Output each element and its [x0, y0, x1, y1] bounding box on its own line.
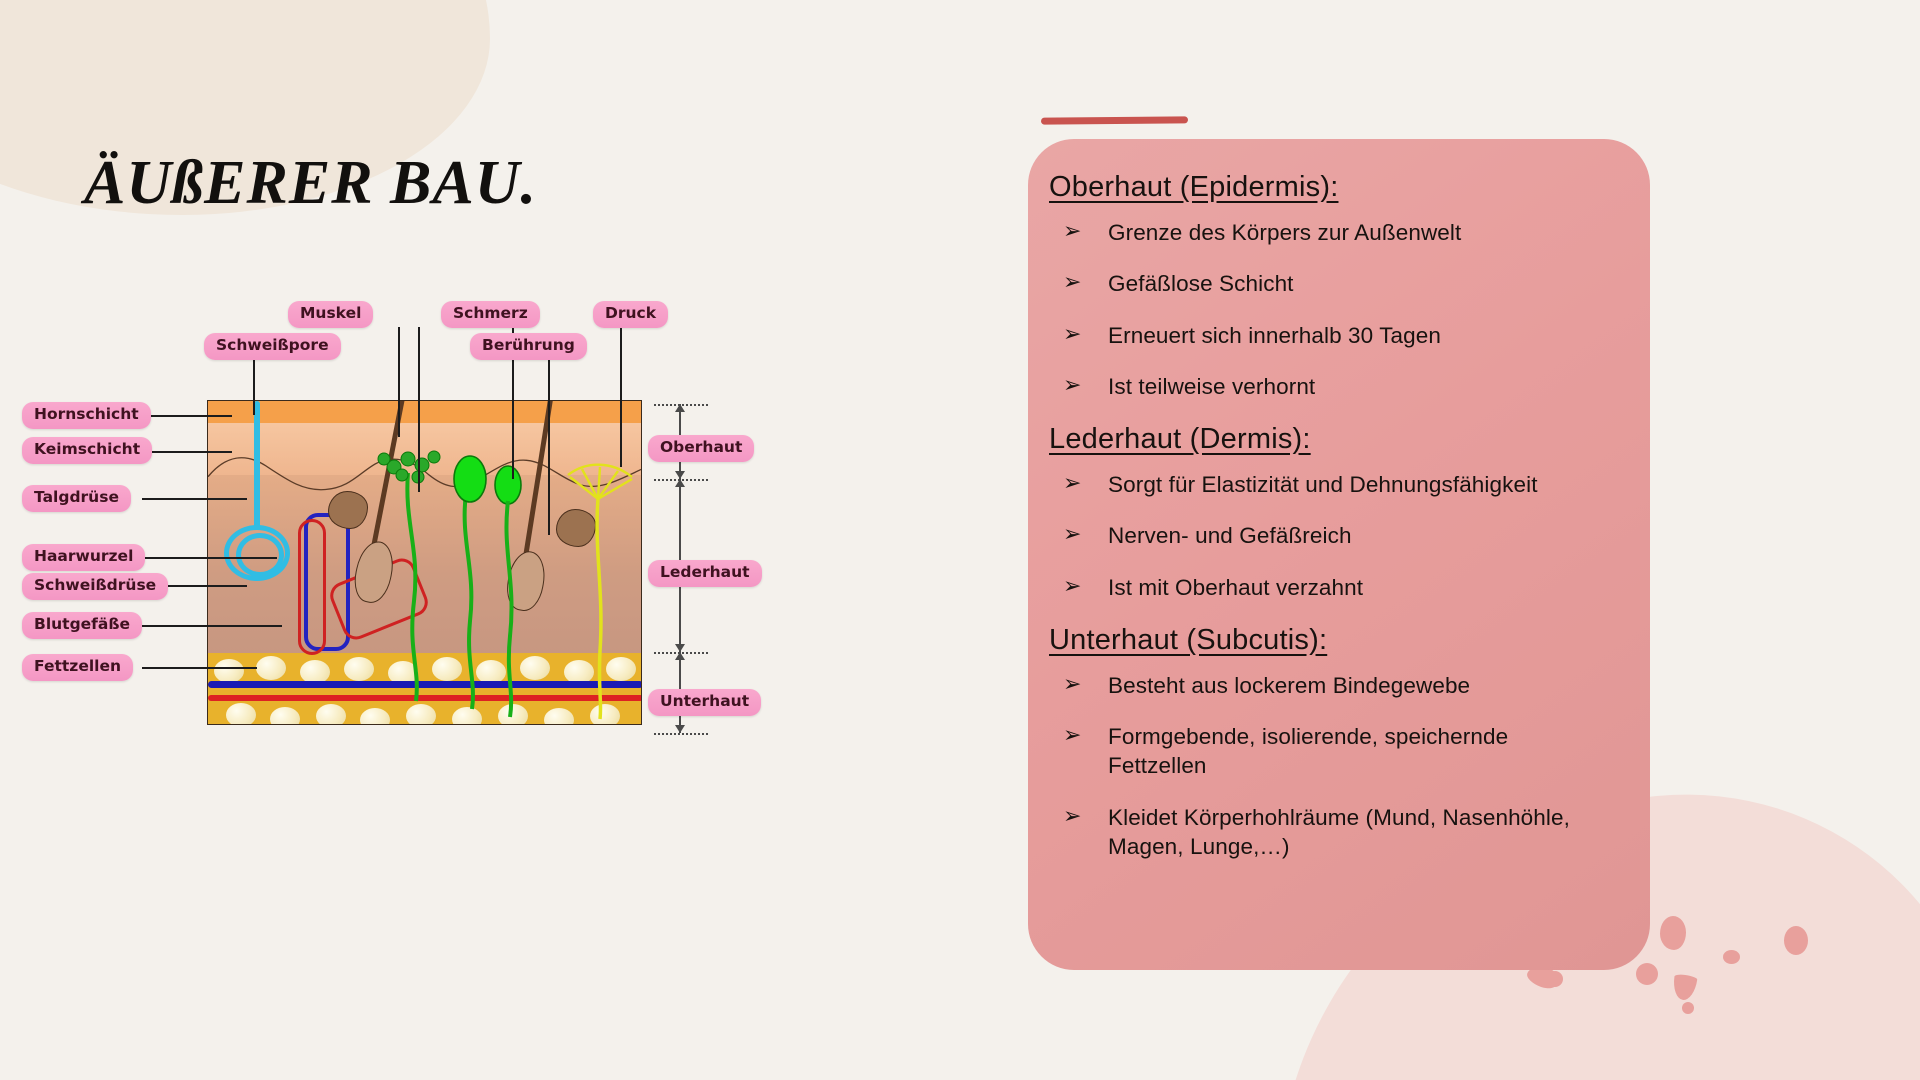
diagram-label-muskel: Muskel [288, 301, 373, 328]
list-item-text: Besteht aus lockerem Bindegewebe [1108, 671, 1470, 700]
leader-line [142, 451, 232, 453]
page-title: ÄUßERER BAU. [84, 148, 537, 219]
list-item: ➢ Formgebende, isolierende, speichernde … [1046, 722, 1616, 781]
leader-line [142, 625, 282, 627]
arrow-bullet-icon: ➢ [1046, 372, 1108, 399]
section-heading-subcutis: Unterhaut (Subcutis): [1049, 624, 1616, 657]
arrow-bullet-icon: ➢ [1046, 218, 1108, 245]
leader-line [548, 360, 550, 535]
arrow-bullet-icon: ➢ [1046, 321, 1108, 348]
list-item-text: Ist teilweise verhornt [1108, 372, 1315, 401]
nerve-endings [208, 401, 642, 725]
list-item: ➢ Ist mit Oberhaut verzahnt [1046, 573, 1616, 602]
list-item: ➢ Ist teilweise verhornt [1046, 372, 1616, 401]
decorative-dot [1784, 926, 1808, 955]
list-item-text: Erneuert sich innerhalb 30 Tagen [1108, 321, 1441, 350]
list-item-text: Kleidet Körperhohlräume (Mund, Nasenhöhl… [1108, 803, 1613, 862]
skin-block [207, 400, 642, 725]
diagram-label-schweisspore: Schweißpore [204, 333, 341, 360]
diagram-label-beruehrung: Berührung [470, 333, 587, 360]
skin-cross-section-diagram: Schweißpore Muskel Schmerz Berührung Dru… [0, 285, 920, 765]
leader-line [142, 557, 277, 559]
leader-line [142, 667, 257, 669]
leader-line [418, 327, 420, 492]
diagram-label-keimschicht: Keimschicht [22, 437, 152, 464]
diagram-label-unterhaut: Unterhaut [648, 689, 761, 716]
list-item: ➢ Kleidet Körperhohlräume (Mund, Nasenhö… [1046, 803, 1616, 862]
list-item: ➢ Sorgt für Elastizität und Dehnungsfähi… [1046, 470, 1616, 499]
diagram-label-schmerz: Schmerz [441, 301, 540, 328]
diagram-label-lederhaut: Lederhaut [648, 560, 762, 587]
decorative-dot [1682, 1002, 1694, 1014]
list-item: ➢ Grenze des Körpers zur Außenwelt [1046, 218, 1616, 247]
arrow-bullet-icon: ➢ [1046, 803, 1108, 830]
arrow-bullet-icon: ➢ [1046, 470, 1108, 497]
decorative-dot [1636, 963, 1658, 985]
accent-underline [1041, 116, 1188, 124]
leader-line [142, 415, 232, 417]
diagram-label-haarwurzel: Haarwurzel [22, 544, 145, 571]
arrow-bullet-icon: ➢ [1046, 269, 1108, 296]
list-item-text: Ist mit Oberhaut verzahnt [1108, 573, 1363, 602]
list-item-text: Nerven- und Gefäßreich [1108, 521, 1352, 550]
list-item-text: Formgebende, isolierende, speichernde Fe… [1108, 722, 1613, 781]
decorative-dot [1547, 971, 1563, 987]
decorative-dot [1723, 950, 1740, 964]
diagram-label-blutgefaesse: Blutgefäße [22, 612, 142, 639]
arrow-bullet-icon: ➢ [1046, 671, 1108, 698]
leader-line [398, 327, 400, 437]
section-heading-epidermis: Oberhaut (Epidermis): [1049, 171, 1616, 204]
decorative-dot [1660, 916, 1686, 950]
arrow-bullet-icon: ➢ [1046, 521, 1108, 548]
list-item: ➢ Erneuert sich innerhalb 30 Tagen [1046, 321, 1616, 350]
diagram-label-druck: Druck [593, 301, 668, 328]
list-item: ➢ Gefäßlose Schicht [1046, 269, 1616, 298]
section-heading-dermis: Lederhaut (Dermis): [1049, 423, 1616, 456]
diagram-label-schweissdruese: Schweißdrüse [22, 573, 168, 600]
list-item: ➢ Besteht aus lockerem Bindegewebe [1046, 671, 1616, 700]
diagram-label-oberhaut: Oberhaut [648, 435, 754, 462]
list-item: ➢ Nerven- und Gefäßreich [1046, 521, 1616, 550]
list-item-text: Gefäßlose Schicht [1108, 269, 1294, 298]
list-item-text: Grenze des Körpers zur Außenwelt [1108, 218, 1461, 247]
leader-line [142, 498, 247, 500]
leader-line [620, 327, 622, 467]
arrow-bullet-icon: ➢ [1046, 722, 1108, 749]
arrow-bullet-icon: ➢ [1046, 573, 1108, 600]
list-item-text: Sorgt für Elastizität und Dehnungsfähigk… [1108, 470, 1538, 499]
bracket-guide [654, 733, 708, 735]
diagram-label-fettzellen: Fettzellen [22, 654, 133, 681]
diagram-label-hornschicht: Hornschicht [22, 402, 151, 429]
slide-canvas: ÄUßERER BAU. Oberhaut (Epidermis): ➢ Gre… [0, 0, 1920, 1080]
diagram-label-talgdruese: Talgdrüse [22, 485, 131, 512]
info-panel: Oberhaut (Epidermis): ➢ Grenze des Körpe… [1028, 139, 1650, 970]
leader-line [253, 360, 255, 415]
